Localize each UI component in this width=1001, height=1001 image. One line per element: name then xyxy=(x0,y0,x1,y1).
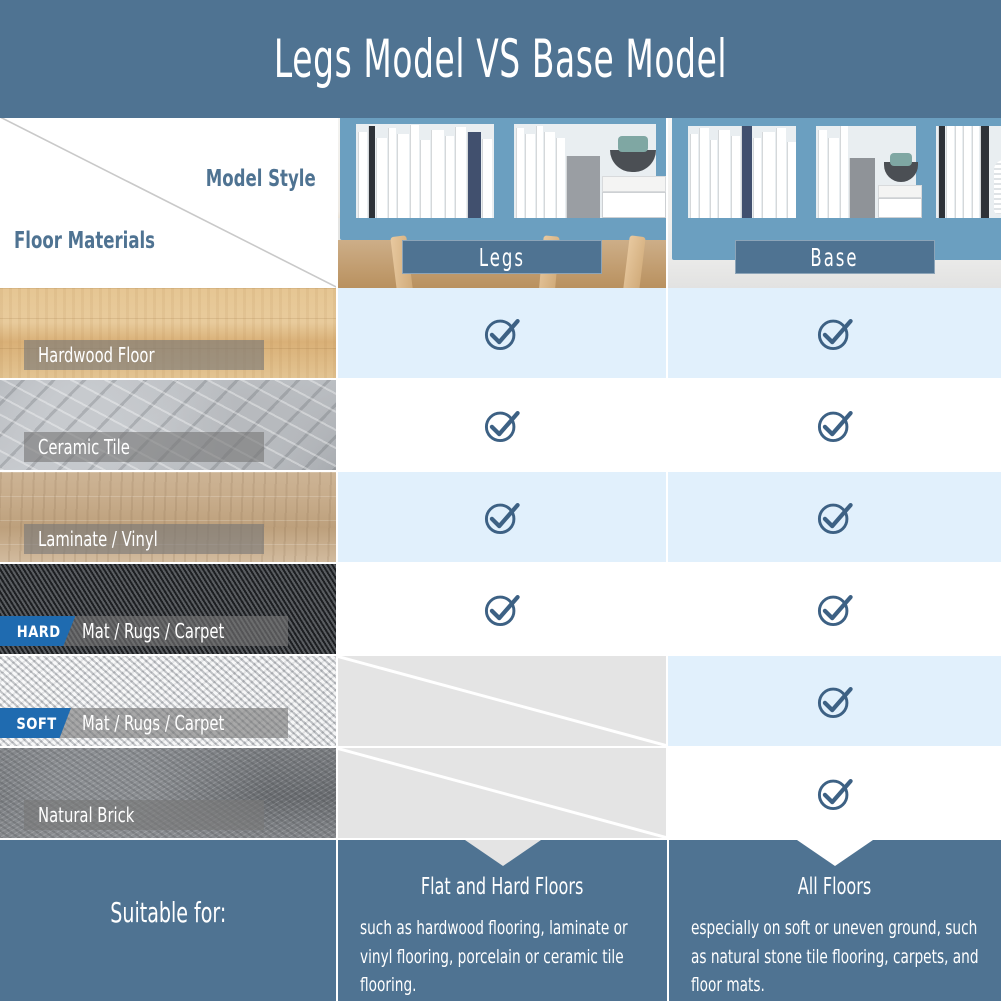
soft-badge: SOFT xyxy=(0,708,71,738)
check-icon xyxy=(480,403,524,447)
base-pointer-notch xyxy=(797,840,873,866)
check-icon xyxy=(813,495,857,539)
page-title: Legs Model VS Base Model xyxy=(274,29,727,90)
suitable-for-label: Suitable for: xyxy=(0,896,336,929)
check-icon xyxy=(813,403,857,447)
material-label-banner: Mat / Rugs / Carpet xyxy=(60,616,288,646)
legs-column-header-banner: Legs xyxy=(402,240,602,274)
shelf-compartment xyxy=(930,120,1001,224)
hard-badge-text: HARD xyxy=(17,622,61,641)
legs-column-label: Legs xyxy=(479,243,525,272)
corner-diagonal-divider xyxy=(0,118,336,288)
legs-summary-cell: Flat and Hard Floors such as hardwood fl… xyxy=(336,840,668,1001)
shelf-compartment xyxy=(508,118,662,224)
material-row-hardwood-floor: Hardwood Floor xyxy=(0,288,336,380)
comparison-infographic: Legs Model VS Base Model Model Style Flo… xyxy=(0,0,1001,1001)
shelf-compartment xyxy=(810,120,922,224)
soft-badge-text: SOFT xyxy=(16,714,56,733)
hard-badge: HARD xyxy=(0,616,75,646)
material-row-laminate-vinyl: Laminate / Vinyl xyxy=(0,472,336,564)
check-icon xyxy=(480,311,524,355)
check-icon xyxy=(813,587,857,631)
material-label-banner: Laminate / Vinyl xyxy=(24,524,264,554)
base-column-header-banner: Base xyxy=(735,240,935,274)
material-row-soft-mat-rugs-carpet: SOFT Mat / Rugs / Carpet xyxy=(0,656,336,748)
corner-header-cell: Model Style Floor Materials xyxy=(0,118,336,288)
check-icon xyxy=(813,311,857,355)
check-icon xyxy=(480,495,524,539)
strikethrough-icon xyxy=(336,748,668,838)
check-icon xyxy=(813,771,857,815)
model-style-label: Model Style xyxy=(206,166,316,192)
column-separator xyxy=(666,118,668,840)
floor-materials-column: Model Style Floor Materials Hardwood Flo… xyxy=(0,118,336,840)
material-label-text: Natural Brick xyxy=(38,803,134,827)
material-row-ceramic-tile: Ceramic Tile xyxy=(0,380,336,472)
shelf-compartment xyxy=(350,118,500,224)
material-row-natural-brick: Natural Brick xyxy=(0,748,336,840)
material-label-text: Mat / Rugs / Carpet xyxy=(82,711,224,735)
cell-legs-soft-mat-rugs-carpet-unavailable xyxy=(336,656,668,748)
base-column-label: Base xyxy=(810,243,858,272)
material-row-hard-mat-rugs-carpet: HARD Mat / Rugs / Carpet xyxy=(0,564,336,656)
base-summary-heading: All Floors xyxy=(669,874,1001,900)
check-icon xyxy=(480,587,524,631)
base-summary-body: especially on soft or uneven ground, suc… xyxy=(691,914,979,1000)
base-summary-cell: All Floors especially on soft or uneven … xyxy=(668,840,1001,1001)
strikethrough-icon xyxy=(336,656,668,746)
material-label-banner: Hardwood Floor xyxy=(24,340,264,370)
legs-model-column: Legs xyxy=(336,118,668,840)
cell-base-soft-mat-rugs-carpet xyxy=(668,656,1001,748)
comparison-table: Model Style Floor Materials Hardwood Flo… xyxy=(0,118,1001,840)
shelf-compartment xyxy=(682,120,802,224)
legs-shelf-body xyxy=(340,118,668,240)
base-model-column: Base xyxy=(668,118,1001,840)
cell-legs-hard-mat-rugs-carpet xyxy=(336,564,668,656)
column-separator xyxy=(336,118,338,840)
base-shelf-body xyxy=(672,118,1001,260)
legs-pointer-notch xyxy=(465,840,541,866)
material-label-text: Laminate / Vinyl xyxy=(38,527,158,551)
cell-base-ceramic-tile xyxy=(668,380,1001,472)
check-icon xyxy=(813,679,857,723)
material-label-text: Hardwood Floor xyxy=(38,343,155,367)
cell-legs-hardwood-floor xyxy=(336,288,668,380)
cell-legs-ceramic-tile xyxy=(336,380,668,472)
material-label-banner: Natural Brick xyxy=(24,800,264,830)
summary-section: Suitable for: Flat and Hard Floors such … xyxy=(0,840,1001,1001)
cell-legs-natural-brick-unavailable xyxy=(336,748,668,840)
legs-product-photo: Legs xyxy=(336,118,668,288)
material-label-text: Ceramic Tile xyxy=(38,435,130,459)
floor-materials-label: Floor Materials xyxy=(14,228,155,254)
base-product-photo: Base xyxy=(668,118,1001,288)
cell-base-hardwood-floor xyxy=(668,288,1001,380)
cell-legs-laminate-vinyl xyxy=(336,472,668,564)
material-label-banner: Mat / Rugs / Carpet xyxy=(60,708,288,738)
cell-base-hard-mat-rugs-carpet xyxy=(668,564,1001,656)
cell-base-laminate-vinyl xyxy=(668,472,1001,564)
suitable-for-cell: Suitable for: xyxy=(0,840,336,1001)
material-label-text: Mat / Rugs / Carpet xyxy=(82,619,224,643)
title-banner: Legs Model VS Base Model xyxy=(0,0,1001,118)
legs-summary-body: such as hardwood flooring, laminate or v… xyxy=(360,914,645,1000)
legs-summary-heading: Flat and Hard Floors xyxy=(338,874,667,900)
cell-base-natural-brick xyxy=(668,748,1001,840)
material-label-banner: Ceramic Tile xyxy=(24,432,264,462)
